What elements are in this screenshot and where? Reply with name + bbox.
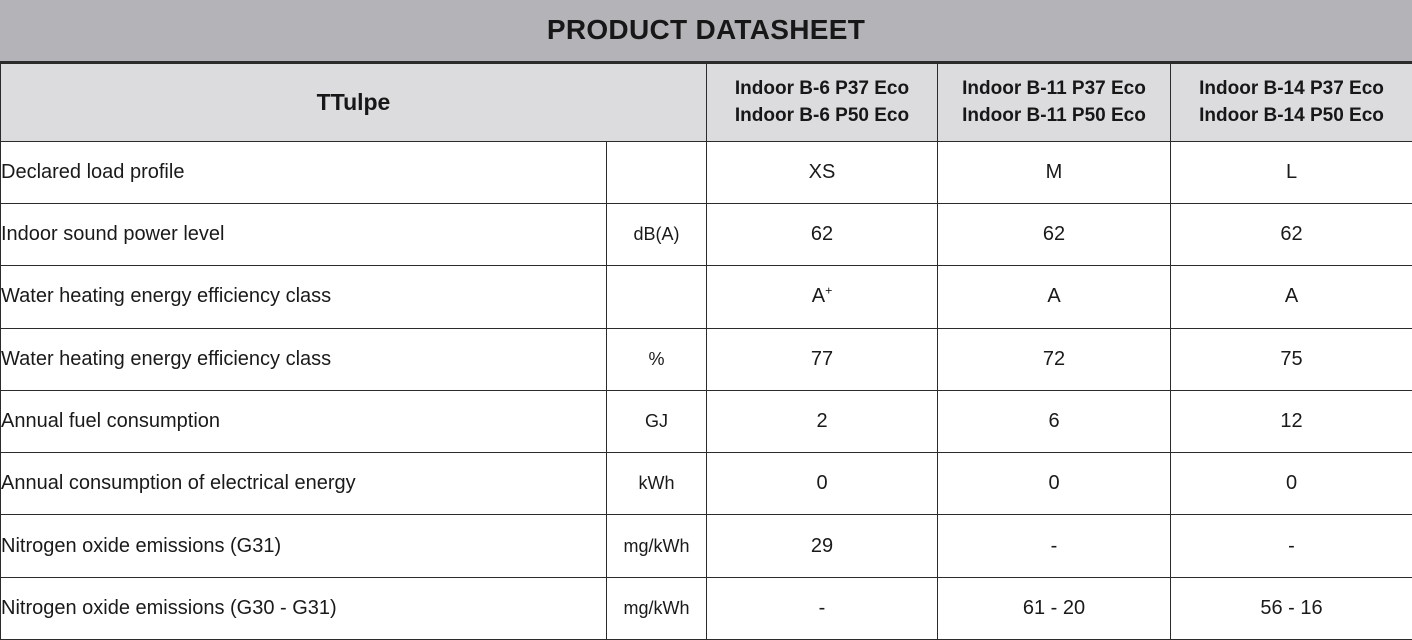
table-header-row: TTulpe Indoor B-6 P37 Eco Indoor B-6 P50… <box>1 63 1412 141</box>
product-datasheet: PRODUCT DATASHEET TTulpe Indoor B-6 P37 … <box>0 0 1412 640</box>
value-text: 0 <box>816 472 827 494</box>
model-2-line-2: Indoor B-11 P50 Eco <box>938 102 1170 130</box>
value-text: A <box>1285 285 1298 307</box>
value-text: 29 <box>811 535 833 557</box>
value-text: M <box>1046 161 1063 183</box>
row-value-model-3: L <box>1171 141 1412 203</box>
value-text: XS <box>809 161 836 183</box>
row-unit <box>607 141 707 203</box>
row-value-model-3: 0 <box>1171 453 1412 515</box>
row-value-model-1: 0 <box>707 453 938 515</box>
row-value-model-2: A <box>938 266 1171 328</box>
row-label: Annual fuel consumption <box>1 390 607 452</box>
value-text: 61 - 20 <box>1023 597 1085 619</box>
row-value-model-1: - <box>707 577 938 639</box>
model-3-line-1: Indoor B-14 P37 Eco <box>1171 75 1412 103</box>
value-text: 2 <box>816 410 827 432</box>
row-value-model-3: A <box>1171 266 1412 328</box>
row-value-model-2: 61 - 20 <box>938 577 1171 639</box>
value-text: 6 <box>1048 410 1059 432</box>
value-text: 77 <box>811 348 833 370</box>
value-text: 72 <box>1043 348 1065 370</box>
column-header-model-3: Indoor B-14 P37 Eco Indoor B-14 P50 Eco <box>1171 63 1412 141</box>
row-label: Nitrogen oxide emissions (G30 - G31) <box>1 577 607 639</box>
row-value-model-3: 62 <box>1171 203 1412 265</box>
row-value-model-2: 62 <box>938 203 1171 265</box>
value-text: 12 <box>1280 410 1302 432</box>
table-row: Water heating energy efficiency class % … <box>1 328 1412 390</box>
column-header-model-1: Indoor B-6 P37 Eco Indoor B-6 P50 Eco <box>707 63 938 141</box>
row-label: Water heating energy efficiency class <box>1 266 607 328</box>
table-body: Declared load profile XS M L Indoor soun… <box>1 141 1412 639</box>
datasheet-table: TTulpe Indoor B-6 P37 Eco Indoor B-6 P50… <box>0 63 1412 640</box>
row-unit: mg/kWh <box>607 515 707 577</box>
row-value-model-1: XS <box>707 141 938 203</box>
column-header-model-2: Indoor B-11 P37 Eco Indoor B-11 P50 Eco <box>938 63 1171 141</box>
row-unit: mg/kWh <box>607 577 707 639</box>
row-value-model-2: 72 <box>938 328 1171 390</box>
value-text: L <box>1286 161 1297 183</box>
row-unit: GJ <box>607 390 707 452</box>
model-3-line-2: Indoor B-14 P50 Eco <box>1171 102 1412 130</box>
model-2-line-1: Indoor B-11 P37 Eco <box>938 75 1170 103</box>
row-value-model-1: 29 <box>707 515 938 577</box>
row-value-model-3: 75 <box>1171 328 1412 390</box>
value-text: 62 <box>811 223 833 245</box>
table-row: Declared load profile XS M L <box>1 141 1412 203</box>
row-value-model-3: 12 <box>1171 390 1412 452</box>
value-text: 62 <box>1280 223 1302 245</box>
brand-header-cell: TTulpe <box>1 63 707 141</box>
datasheet-title-bar: PRODUCT DATASHEET <box>0 0 1412 63</box>
table-row: Nitrogen oxide emissions (G30 - G31) mg/… <box>1 577 1412 639</box>
row-unit: dB(A) <box>607 203 707 265</box>
row-value-model-1: 77 <box>707 328 938 390</box>
row-value-model-1: A+ <box>707 266 938 328</box>
row-unit: kWh <box>607 453 707 515</box>
value-superscript: + <box>825 284 832 298</box>
table-header: TTulpe Indoor B-6 P37 Eco Indoor B-6 P50… <box>1 63 1412 141</box>
value-text: 0 <box>1286 472 1297 494</box>
value-text: - <box>1051 535 1058 557</box>
row-value-model-2: M <box>938 141 1171 203</box>
model-1-line-2: Indoor B-6 P50 Eco <box>707 102 937 130</box>
model-1-line-1: Indoor B-6 P37 Eco <box>707 75 937 103</box>
value-text: 62 <box>1043 223 1065 245</box>
row-value-model-1: 62 <box>707 203 938 265</box>
value-text: 75 <box>1280 348 1302 370</box>
table-row: Indoor sound power level dB(A) 62 62 62 <box>1 203 1412 265</box>
table-row: Annual consumption of electrical energy … <box>1 453 1412 515</box>
table-row: Annual fuel consumption GJ 2 6 12 <box>1 390 1412 452</box>
value-text: - <box>819 597 826 619</box>
table-row: Nitrogen oxide emissions (G31) mg/kWh 29… <box>1 515 1412 577</box>
row-label: Annual consumption of electrical energy <box>1 453 607 515</box>
value-text: 56 - 16 <box>1260 597 1322 619</box>
row-value-model-2: 0 <box>938 453 1171 515</box>
row-value-model-2: 6 <box>938 390 1171 452</box>
row-value-model-3: 56 - 16 <box>1171 577 1412 639</box>
row-label: Declared load profile <box>1 141 607 203</box>
row-value-model-3: - <box>1171 515 1412 577</box>
row-unit: % <box>607 328 707 390</box>
row-label: Nitrogen oxide emissions (G31) <box>1 515 607 577</box>
row-label: Indoor sound power level <box>1 203 607 265</box>
row-label: Water heating energy efficiency class <box>1 328 607 390</box>
table-row: Water heating energy efficiency class A+… <box>1 266 1412 328</box>
row-unit <box>607 266 707 328</box>
page-title: PRODUCT DATASHEET <box>547 14 865 46</box>
row-value-model-2: - <box>938 515 1171 577</box>
value-text: 0 <box>1048 472 1059 494</box>
value-text: A <box>1047 285 1060 307</box>
row-value-model-1: 2 <box>707 390 938 452</box>
value-text: A <box>812 285 825 307</box>
value-text: - <box>1288 535 1295 557</box>
